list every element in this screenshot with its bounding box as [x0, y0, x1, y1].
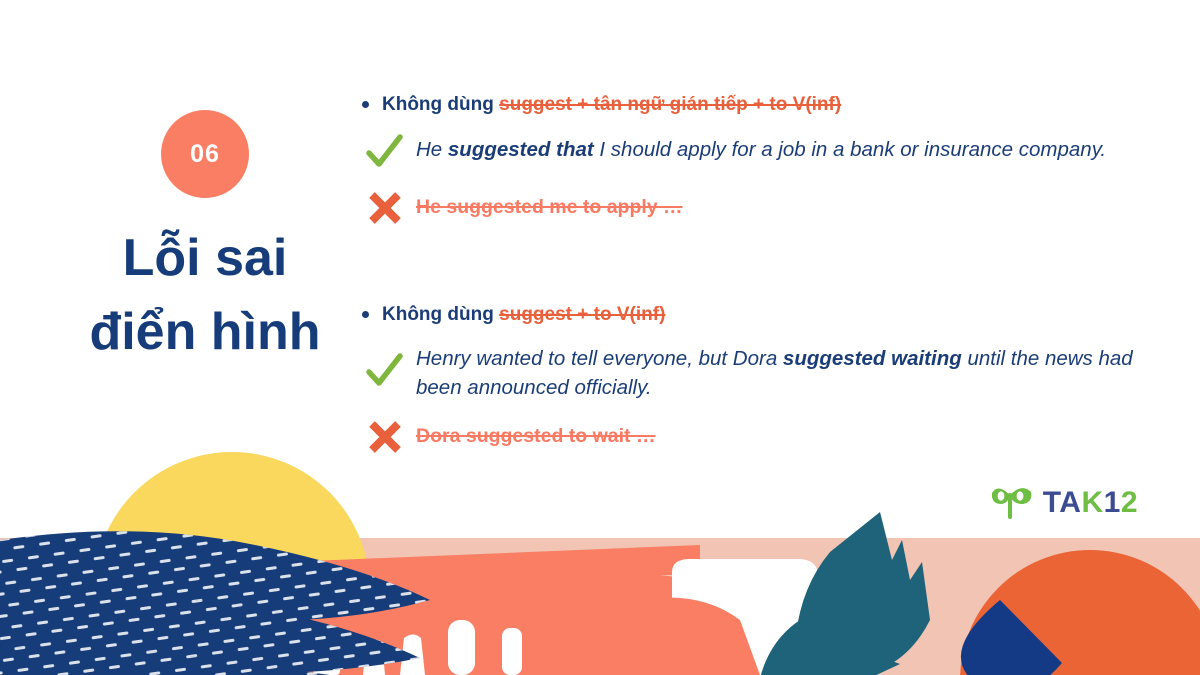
rule-prefix-2: Không dùng — [382, 304, 499, 325]
step-number-badge: 06 — [161, 110, 249, 198]
check-icon — [362, 132, 408, 174]
sprout-icon — [990, 481, 1034, 524]
rule-bullet-1: Không dùng suggest + tân ngữ gián tiếp +… — [362, 92, 1182, 118]
example-incorrect-text-2: Dora suggested to wait … — [416, 417, 655, 451]
seg-3: I should apply for a job in a bank or in… — [594, 138, 1106, 161]
logo-wordmark: TAK12 — [1043, 488, 1138, 518]
example-correct-1: He suggested that I should apply for a j… — [362, 132, 1182, 174]
example-correct-text-1: He suggested that I should apply for a j… — [416, 132, 1106, 164]
bullet-dot-icon — [362, 101, 369, 108]
rule-block-1: Không dùng suggest + tân ngữ gián tiếp +… — [362, 92, 1182, 230]
seg-1: Henry wanted to tell everyone, but Dora — [416, 347, 783, 370]
rule-prefix-1: Không dùng — [382, 94, 499, 115]
logo-text-2: 2 — [1121, 486, 1138, 519]
page-title-line1: Lỗi sai — [60, 222, 350, 296]
seg-1: He — [416, 138, 448, 161]
main-content: Không dùng suggest + tân ngữ gián tiếp +… — [362, 92, 1182, 469]
teal-leaf-top — [794, 512, 930, 675]
yellow-circle — [94, 452, 370, 675]
check-icon — [362, 341, 408, 393]
white-bars — [313, 620, 522, 675]
example-correct-text-2: Henry wanted to tell everyone, but Dora … — [416, 341, 1156, 402]
orange-circle — [960, 550, 1200, 675]
seg-2: suggested that — [448, 138, 594, 161]
page-title-line2: điển hình — [60, 296, 350, 370]
brand-logo: TAK12 — [990, 481, 1138, 524]
logo-text-k: K — [1081, 486, 1103, 519]
left-column: 06 Lỗi sai điển hình — [60, 110, 350, 370]
navy-leaf-4 — [0, 647, 330, 675]
example-correct-2: Henry wanted to tell everyone, but Dora … — [362, 341, 1182, 402]
slide: 06 Lỗi sai điển hình Không dùng suggest … — [0, 0, 1200, 675]
rule-text-1: Không dùng suggest + tân ngữ gián tiếp +… — [382, 92, 841, 118]
navy-leaf-1 — [0, 531, 430, 620]
logo-text-1: 1 — [1104, 486, 1121, 519]
seg-2: suggested waiting — [783, 347, 962, 370]
bullet-dot-icon — [362, 311, 369, 318]
example-incorrect-2: Dora suggested to wait … — [362, 417, 1182, 459]
example-incorrect-1: He suggested me to apply … — [362, 188, 1182, 230]
cross-icon — [362, 417, 408, 459]
cross-icon — [362, 188, 408, 230]
navy-leaf-3 — [0, 594, 420, 673]
rule-bullet-2: Không dùng suggest + to V(inf) — [362, 302, 1182, 328]
step-number: 06 — [190, 140, 220, 169]
teal-leaf-bottom — [760, 609, 900, 675]
example-incorrect-text-1: He suggested me to apply … — [416, 188, 683, 222]
rule-struck-2: suggest + to V(inf) — [499, 304, 665, 325]
page-title: Lỗi sai điển hình — [60, 222, 350, 370]
rule-block-2: Không dùng suggest + to V(inf) Henry wan… — [362, 302, 1182, 459]
rule-struck-1: suggest + tân ngữ gián tiếp + to V(inf) — [499, 94, 841, 115]
rule-text-2: Không dùng suggest + to V(inf) — [382, 302, 665, 328]
logo-text-ta: TA — [1043, 486, 1082, 519]
